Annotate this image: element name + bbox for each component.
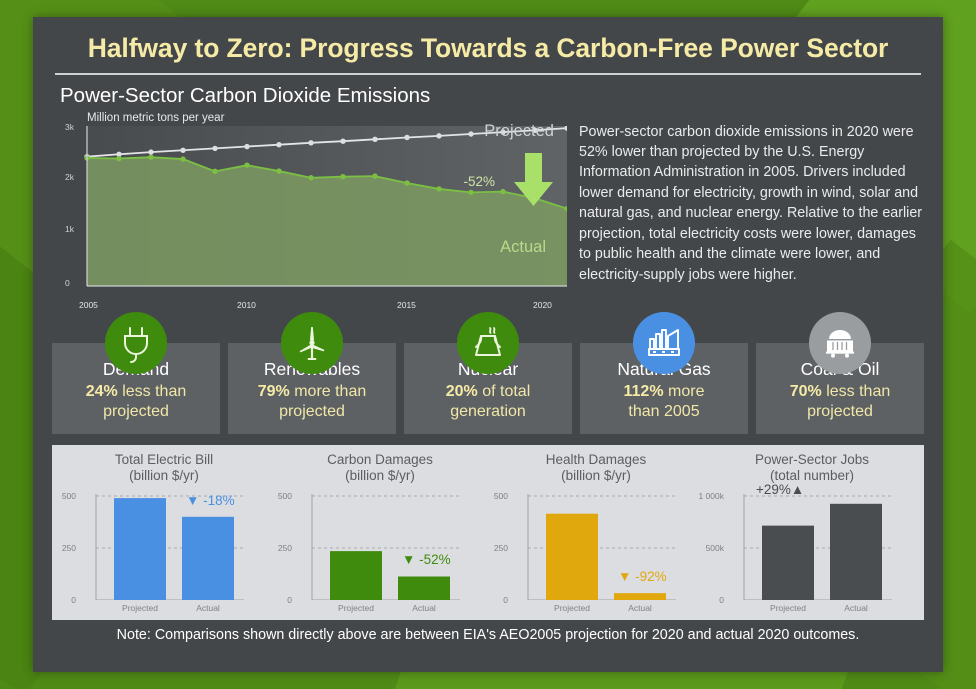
badge-renewables: [281, 312, 343, 374]
x-tick-2005: 2005: [79, 300, 98, 310]
emissions-delta-label: -52%: [463, 174, 495, 189]
badge-demand: [105, 312, 167, 374]
up-triangle-icon: ▲: [791, 482, 804, 497]
y-tick-1k: 1k: [65, 224, 74, 234]
stat-card-demand[interactable]: Demand 24% less than projected: [52, 312, 220, 434]
mini-chart-total-electric-bill: Total Electric Bill(billion $/yr)0250500…: [56, 452, 272, 616]
mini-chart-subtitle: (billion $/yr): [272, 468, 488, 484]
card-stat-rest-nuclear: of total: [478, 383, 530, 400]
mini-x-tick: Projected: [542, 603, 602, 613]
title-divider: [55, 73, 921, 75]
mini-y-tick: 500: [256, 491, 292, 501]
card-stat-natural-gas: 112% more than 2005: [586, 382, 742, 422]
mini-chart-power-sector-jobs: Power-Sector Jobs(total number)0500k1 00…: [704, 452, 920, 616]
mini-x-tick: Projected: [758, 603, 818, 613]
mini-chart-title: Health Damages(billion $/yr): [488, 452, 704, 484]
mini-y-tick: 500k: [688, 543, 724, 553]
card-stat-coal-oil: 70% less than projected: [762, 382, 918, 422]
series-label-actual: Actual: [500, 238, 546, 257]
card-stat-value-demand: 24%: [86, 383, 118, 400]
mini-x-tick: Actual: [610, 603, 670, 613]
top-row: Million metric tons per year: [47, 108, 929, 298]
card-stat-nuclear: 20% of total generation: [410, 382, 566, 422]
mini-y-tick: 1 000k: [688, 491, 724, 501]
stat-card-natural-gas[interactable]: Natural Gas 112% more than 2005: [580, 312, 748, 434]
mini-chart-subtitle: (total number): [704, 468, 920, 484]
card-stat-rest-renewables: more than: [290, 383, 366, 400]
mini-chart-title: Carbon Damages(billion $/yr): [272, 452, 488, 484]
mini-chart-title-line1: Health Damages: [488, 452, 704, 468]
bar-actual: [398, 576, 450, 600]
card-stat-line2-renewables: projected: [279, 403, 345, 420]
mini-y-tick: 250: [40, 543, 76, 553]
bar-projected: [330, 551, 382, 600]
card-stat-rest-natural-gas: more: [664, 383, 705, 400]
mini-delta-text: +29%: [756, 482, 791, 497]
bar-actual: [614, 593, 666, 600]
mini-chart-title-line1: Total Electric Bill: [56, 452, 272, 468]
section-title: Power-Sector Carbon Dioxide Emissions: [60, 84, 929, 108]
mini-x-tick: Actual: [178, 603, 238, 613]
mini-x-tick: Actual: [394, 603, 454, 613]
mini-delta-annotation: ▼ -52%: [402, 552, 451, 567]
y-tick-2k: 2k: [65, 172, 74, 182]
card-stat-line2-coal-oil: projected: [807, 403, 873, 420]
bar-projected: [114, 498, 166, 600]
mini-y-tick: 0: [688, 595, 724, 605]
mini-x-tick: Actual: [826, 603, 886, 613]
badge-coal-oil: [809, 312, 871, 374]
bar-actual: [830, 504, 882, 600]
card-stat-line2-nuclear: generation: [450, 403, 526, 420]
page-title: Halfway to Zero: Progress Towards a Carb…: [47, 17, 929, 62]
mini-delta-text: -92%: [631, 569, 666, 584]
card-stat-rest-coal-oil: less than: [822, 383, 890, 400]
card-stat-value-nuclear: 20%: [446, 383, 478, 400]
mini-chart-plot: 0250500ProjectedActual▼ -18%: [78, 490, 250, 600]
coal-hopper-car-icon: [820, 323, 860, 363]
badge-natural-gas: [633, 312, 695, 374]
mini-chart-plot: 0500k1 000kProjectedActual +29%▲: [726, 490, 898, 600]
mini-chart-subtitle: (billion $/yr): [56, 468, 272, 484]
mini-chart-svg: [294, 490, 466, 600]
mini-delta-text: -18%: [199, 493, 234, 508]
card-stat-demand: 24% less than projected: [58, 382, 214, 422]
mini-y-tick: 0: [256, 595, 292, 605]
mini-x-tick: Projected: [110, 603, 170, 613]
cooling-tower-icon: [468, 323, 508, 363]
gas-plant-icon: [644, 323, 684, 363]
mini-delta-annotation: ▼ -18%: [186, 493, 235, 508]
line-chart-svg: [55, 126, 567, 298]
card-stat-line2-natural-gas: than 2005: [628, 403, 699, 420]
mini-chart-svg: [726, 490, 898, 600]
mini-chart-plot: 0250500ProjectedActual▼ -92%: [510, 490, 682, 600]
card-stat-renewables: 79% more than projected: [234, 382, 390, 422]
stat-card-row: Demand 24% less than projected: [52, 312, 924, 434]
mini-delta-annotation: ▼ -92%: [618, 569, 667, 584]
mini-charts-panel: Total Electric Bill(billion $/yr)0250500…: [52, 445, 924, 620]
card-stat-rest-demand: less than: [118, 383, 186, 400]
mini-chart-carbon-damages: Carbon Damages(billion $/yr)0250500Proje…: [272, 452, 488, 616]
mini-chart-title-line1: Carbon Damages: [272, 452, 488, 468]
footnote: Note: Comparisons shown directly above a…: [47, 627, 929, 643]
power-plug-icon: [116, 323, 156, 363]
bar-projected: [762, 525, 814, 599]
y-tick-3k: 3k: [65, 122, 74, 132]
mini-y-tick: 0: [472, 595, 508, 605]
mini-y-tick: 0: [40, 595, 76, 605]
stat-card-renewables[interactable]: Renewables 79% more than projected: [228, 312, 396, 434]
down-triangle-icon: ▼: [186, 493, 199, 508]
stat-card-nuclear[interactable]: Nuclear 20% of total generation: [404, 312, 572, 434]
infographic-poster: Halfway to Zero: Progress Towards a Carb…: [33, 17, 943, 672]
mini-chart-subtitle: (billion $/yr): [488, 468, 704, 484]
mini-chart-plot: 0250500ProjectedActual▼ -52%: [294, 490, 466, 600]
stat-card-coal-oil[interactable]: Coal & Oil 70% less than projected: [756, 312, 924, 434]
bar-actual: [182, 517, 234, 600]
mini-chart-title-line1: Power-Sector Jobs: [704, 452, 920, 468]
mini-y-tick: 250: [256, 543, 292, 553]
mini-chart-title: Power-Sector Jobs(total number): [704, 452, 920, 484]
wind-turbine-icon: [292, 323, 332, 363]
card-stat-value-coal-oil: 70%: [790, 383, 822, 400]
summary-paragraph: Power-sector carbon dioxide emissions in…: [579, 122, 929, 286]
x-tick-2010: 2010: [237, 300, 256, 310]
bar-projected: [546, 513, 598, 599]
x-tick-2015: 2015: [397, 300, 416, 310]
mini-chart-title: Total Electric Bill(billion $/yr): [56, 452, 272, 484]
card-stat-value-renewables: 79%: [258, 383, 290, 400]
down-triangle-icon: ▼: [402, 552, 415, 567]
card-stat-value-natural-gas: 112%: [624, 383, 664, 400]
down-triangle-icon: ▼: [618, 569, 631, 584]
mini-y-tick: 250: [472, 543, 508, 553]
mini-chart-health-damages: Health Damages(billion $/yr)0250500Proje…: [488, 452, 704, 616]
card-stat-line2-demand: projected: [103, 403, 169, 420]
mini-delta-annotation: +29%▲: [756, 482, 804, 497]
mini-delta-text: -52%: [415, 552, 450, 567]
x-tick-2020: 2020: [533, 300, 552, 310]
mini-y-tick: 500: [472, 491, 508, 501]
mini-y-tick: 500: [40, 491, 76, 501]
mini-x-tick: Projected: [326, 603, 386, 613]
badge-nuclear: [457, 312, 519, 374]
series-label-projected: Projected: [484, 122, 554, 141]
line-chart-plot: 3k 2k 1k 0 2005 2010 2015 2020 Projected…: [55, 126, 567, 298]
emissions-line-chart: Million metric tons per year: [55, 108, 567, 298]
y-tick-0: 0: [65, 278, 70, 288]
